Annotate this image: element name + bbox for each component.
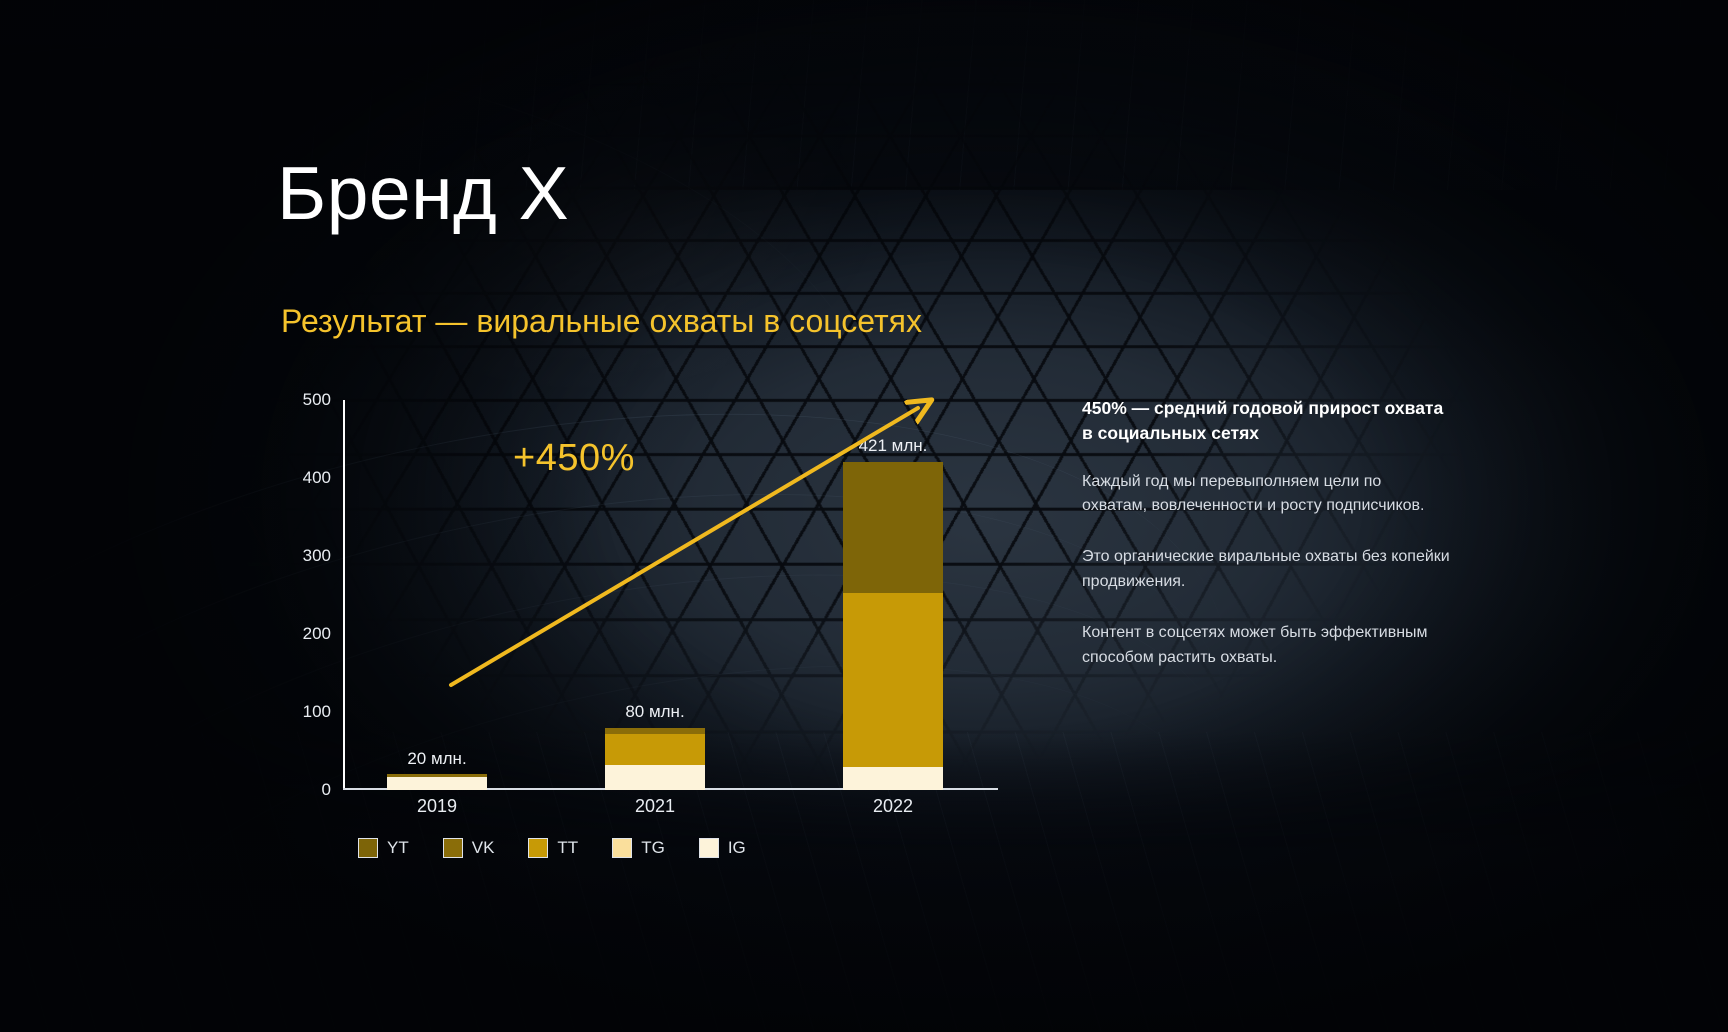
legend-item-tg[interactable]: TG [612, 838, 665, 858]
growth-trend-arrow-icon [281, 392, 1021, 812]
page-title: Бренд X [277, 156, 569, 231]
chart-legend: YT VK TT TG IG [358, 838, 746, 858]
legend-item-tt[interactable]: TT [528, 838, 578, 858]
growth-annotation-label: +450% [513, 437, 635, 480]
stacked-bar-chart: 500 400 300 200 100 0 20 млн. 80 млн. [281, 392, 1021, 852]
page-subtitle: Результат — виральные охваты в соцсетях [281, 302, 922, 340]
insight-text-block: 450% — средний годовой прирост охвата в … [1082, 396, 1450, 670]
insight-heading: 450% — средний годовой прирост охвата в … [1082, 396, 1450, 446]
legend-label-ig: IG [728, 838, 746, 858]
legend-label-vk: VK [472, 838, 495, 858]
insight-paragraph-2: Это органические виральные охваты без ко… [1082, 545, 1450, 595]
insight-paragraph-1: Каждый год мы перевыполняем цели по охва… [1082, 470, 1450, 520]
legend-item-yt[interactable]: YT [358, 838, 409, 858]
legend-label-yt: YT [387, 838, 409, 858]
legend-swatch-ig [699, 838, 719, 858]
legend-swatch-vk [443, 838, 463, 858]
legend-swatch-tt [528, 838, 548, 858]
legend-item-ig[interactable]: IG [699, 838, 746, 858]
legend-label-tt: TT [557, 838, 578, 858]
presentation-slide: Бренд X Результат — виральные охваты в с… [0, 0, 1728, 1032]
insight-paragraph-3: Контент в соцсетях может быть эффективны… [1082, 621, 1450, 671]
legend-item-vk[interactable]: VK [443, 838, 495, 858]
legend-swatch-tg [612, 838, 632, 858]
legend-label-tg: TG [641, 838, 665, 858]
legend-swatch-yt [358, 838, 378, 858]
